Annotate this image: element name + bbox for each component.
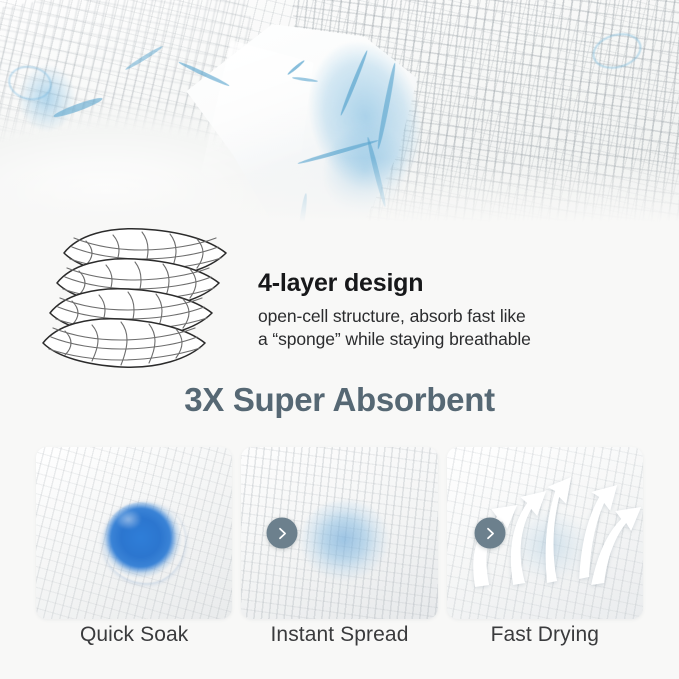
four-layer-description-line-1: open-cell structure, absorb fast like <box>258 305 658 328</box>
step-caption-instant-spread: Instant Spread <box>241 623 437 663</box>
step-panel-quick-soak <box>36 447 232 619</box>
blue-print-motif <box>0 52 90 144</box>
four-layer-section: 4-layer design open-cell structure, abso… <box>0 215 679 375</box>
four-layer-title: 4-layer design <box>258 270 658 298</box>
step-arrow-badge-2 <box>475 518 506 549</box>
step-arrow-badge-1 <box>267 518 298 549</box>
four-layer-mesh-icon <box>36 221 246 371</box>
chevron-right-icon <box>483 526 497 540</box>
absorbency-headline: 3X Super Absorbent <box>0 381 679 419</box>
infographic-page: 4-layer design open-cell structure, abso… <box>0 0 679 679</box>
four-layer-text: 4-layer design open-cell structure, abso… <box>258 270 658 351</box>
step-captions: Quick Soak Instant Spread Fast Drying <box>36 623 643 663</box>
chevron-right-icon <box>275 526 289 540</box>
step-caption-fast-drying: Fast Drying <box>447 623 643 663</box>
droplet-highlight <box>115 509 142 530</box>
spread-blue-stain <box>300 500 392 584</box>
step-caption-quick-soak: Quick Soak <box>36 623 232 663</box>
absorbency-step-panels <box>36 447 643 619</box>
hero-fabric-photo <box>0 0 679 228</box>
four-layer-description-line-2: a “sponge” while staying breathable <box>258 328 658 351</box>
